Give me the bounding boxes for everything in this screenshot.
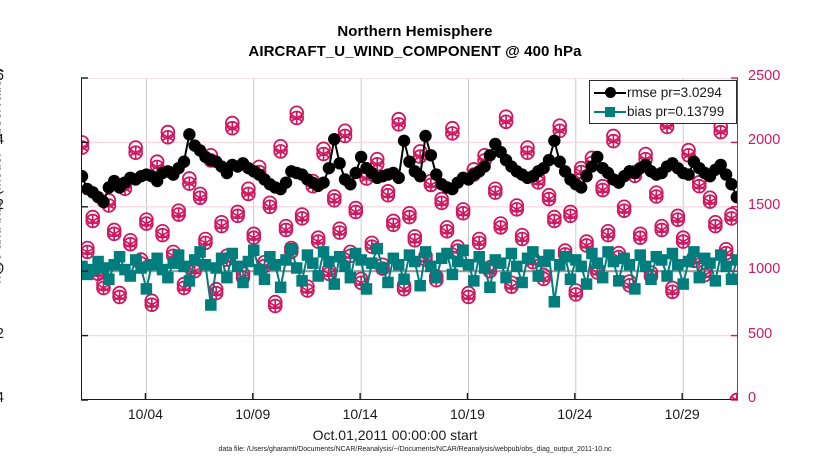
- legend-item-bias: bias pr=0.13799: [593, 102, 736, 121]
- chart-title: Northern Hemisphere AIRCRAFT_U_WIND_COMP…: [0, 22, 830, 62]
- series-markers: [82, 78, 737, 399]
- chart-title-line2: AIRCRAFT_U_WIND_COMPONENT @ 400 hPa: [0, 42, 830, 62]
- x-tick-3: 10/19: [422, 406, 512, 422]
- legend-marker-rmse: [593, 85, 627, 101]
- x-tick-1: 10/09: [208, 406, 298, 422]
- y-tick-right-0: 2500: [748, 69, 808, 84]
- figure-root: Northern Hemisphere AIRCRAFT_U_WIND_COMP…: [0, 0, 830, 470]
- x-tick-4: 10/24: [530, 406, 620, 422]
- y-tick-right-2: 1500: [748, 198, 808, 213]
- y-tick-right-5: 0: [748, 391, 808, 406]
- legend-item-rmse: rmse pr=3.0294: [593, 83, 736, 102]
- data-file-note: data file: /Users/gharamti/Documents/NCA…: [0, 446, 830, 453]
- plot-canvas: [82, 78, 737, 399]
- legend-label-bias: bias pr=0.13799: [627, 104, 724, 119]
- x-tick-0: 10/04: [100, 406, 190, 422]
- y-tick-right-3: 1000: [748, 262, 808, 277]
- x-tick-2: 10/14: [315, 406, 405, 422]
- legend-label-rmse: rmse pr=3.0294: [627, 85, 722, 100]
- y-tick-right-1: 2000: [748, 133, 808, 148]
- y-tick-right-4: 500: [748, 327, 808, 342]
- x-tick-5: 10/29: [637, 406, 727, 422]
- chart-title-line1: Northern Hemisphere: [0, 22, 830, 42]
- y-axis-left-label: rmse and bias (model - observation): [0, 0, 4, 386]
- y-axis-right-label: # of obs: o=possible; *=assimilated: [790, 0, 805, 60]
- x-axis-label: Oct.01,2011 00:00:00 start: [0, 427, 790, 443]
- y-tick-left-5: -4: [0, 391, 4, 406]
- legend-marker-bias: [593, 104, 627, 120]
- plot-area: [81, 78, 738, 400]
- legend: rmse pr=3.0294 bias pr=0.13799: [589, 80, 737, 124]
